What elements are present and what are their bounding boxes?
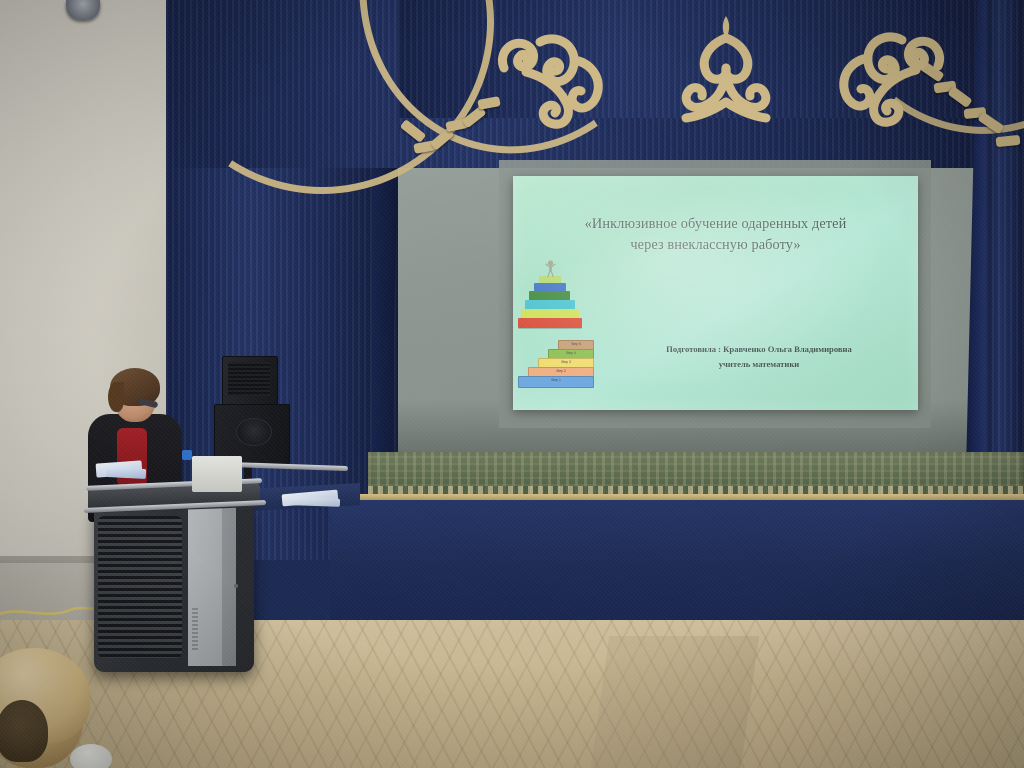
lectern-lock-icon [234, 584, 238, 588]
speaker-cone-icon [236, 418, 272, 446]
photograph-scene: Step 5 Step 4 Step 3 Step 2 Step 1 «Инкл… [0, 0, 1024, 768]
gold-scrollwork-ornament-center [662, 10, 790, 140]
slide-title-line-1: «Инклюзивное обучение одаренных детей [518, 214, 913, 235]
audience-member-shadow [0, 700, 48, 762]
carpet-runner [591, 636, 760, 768]
gold-scrollwork-ornament-left [496, 28, 616, 132]
slide-author-line-2: учитель математики [600, 357, 918, 372]
slide-author-line-1: Подготовила : Кравченко Ольга Владимиров… [600, 342, 918, 357]
papers-on-table [292, 497, 340, 507]
pa-speaker-grille [228, 362, 270, 396]
lectern-logo [192, 608, 198, 652]
presenter-hair-side [108, 382, 124, 412]
lectern-vent-grille [98, 516, 182, 658]
foreground-white-object [70, 744, 112, 768]
slide-title-line-2: через внеклассную работу» [518, 235, 913, 256]
floor-cable [0, 604, 96, 620]
gold-scrollwork-ornament-right [826, 26, 946, 130]
achievement-pyramid-graphic [518, 276, 582, 330]
slide-author-block: Подготовила : Кравченко Ольга Владимиров… [600, 342, 918, 372]
book-steps-graphic: Step 5 Step 4 Step 3 Step 2 Step 1 [518, 340, 594, 390]
laptop-on-lectern [192, 456, 242, 492]
person-figure-icon [545, 260, 556, 277]
presenter-notes [106, 467, 146, 479]
slide-title: «Инклюзивное обучение одаренных детей че… [518, 214, 913, 256]
lectern [88, 460, 260, 672]
blue-object-icon [182, 450, 192, 460]
